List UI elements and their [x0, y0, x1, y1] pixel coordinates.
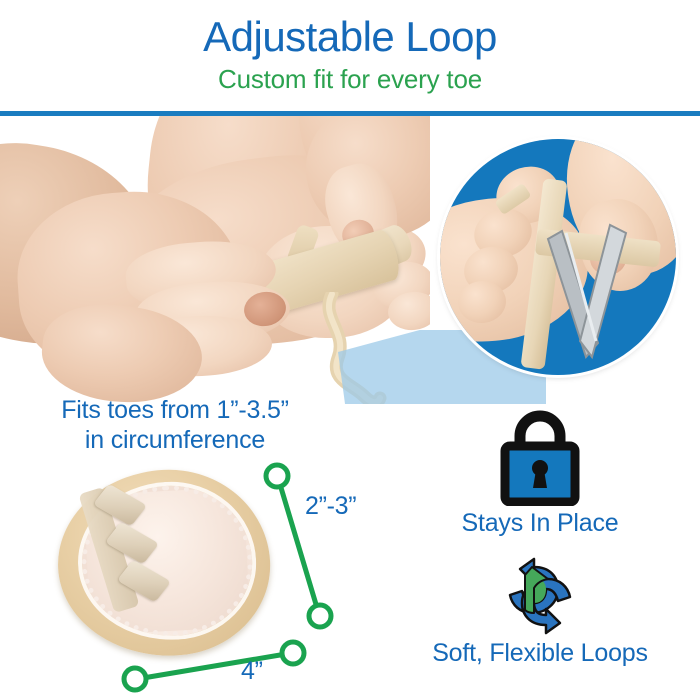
- feature-stays-in-place: Stays In Place: [380, 406, 700, 538]
- padlock-icon: [380, 406, 700, 506]
- hero-photo-stage: [0, 116, 700, 404]
- header: Adjustable Loop Custom fit for every toe: [0, 0, 700, 113]
- page-subtitle: Custom fit for every toe: [0, 63, 700, 95]
- measure-label-width: 4”: [241, 657, 263, 686]
- product-photo: [58, 470, 288, 670]
- measure-label-height: 2”-3”: [305, 492, 356, 521]
- fit-range-line-2: in circumference: [0, 425, 350, 455]
- feature-soft-flexible-loops: Soft, Flexible Loops: [380, 556, 700, 668]
- scissors-icon: [536, 223, 656, 375]
- interlocking-loops-icon: [380, 556, 700, 636]
- fit-range-line-1: Fits toes from 1”-3.5”: [0, 395, 350, 425]
- feature-label-soft-flexible-loops: Soft, Flexible Loops: [380, 638, 700, 668]
- fit-range-caption: Fits toes from 1”-3.5” in circumference: [0, 395, 350, 455]
- product-infographic: Adjustable Loop Custom fit for every toe: [0, 0, 700, 700]
- magnified-detail-circle: [440, 139, 676, 375]
- page-title: Adjustable Loop: [0, 13, 700, 61]
- feature-label-stays-in-place: Stays In Place: [380, 508, 700, 538]
